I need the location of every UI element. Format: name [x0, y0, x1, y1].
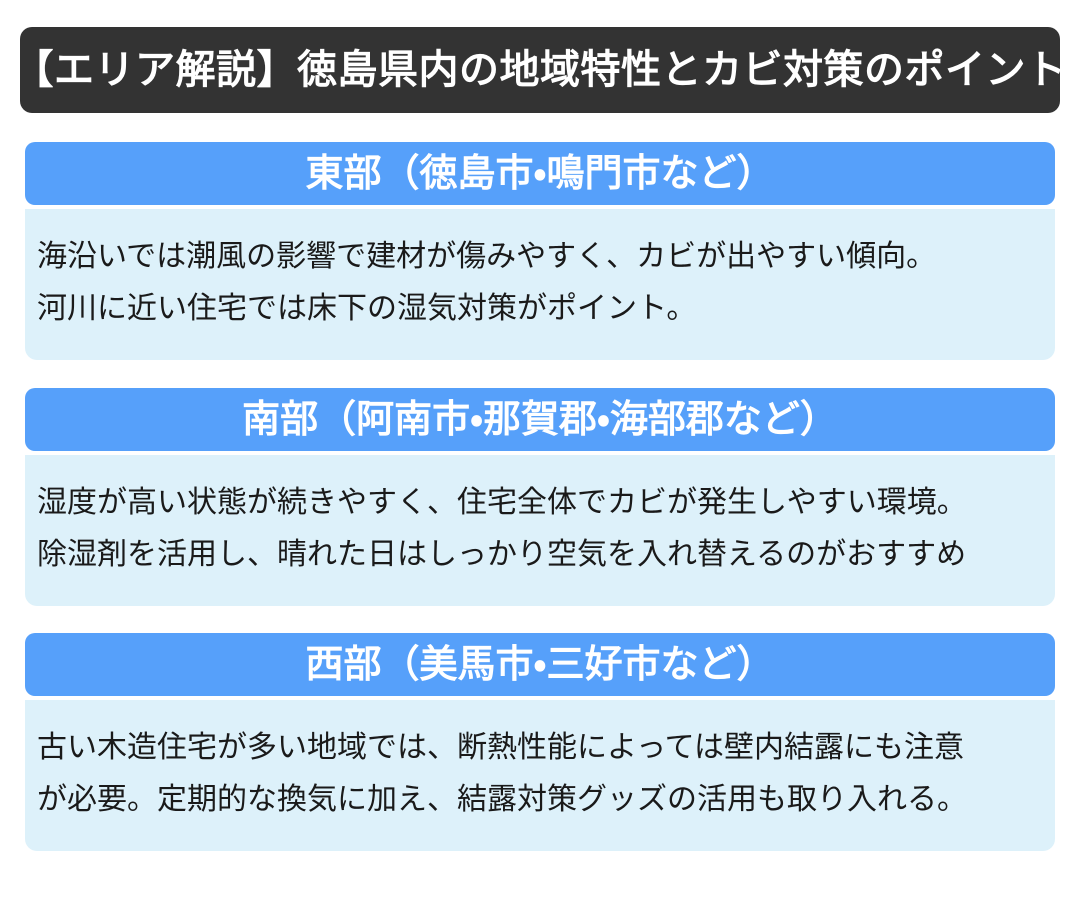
region-body-line: 海沿いでは潮風の影響で建材が傷みやすく、カビが出やすい傾向。 [37, 231, 1043, 283]
region-body-line: 河川に近い住宅では床下の湿気対策がポイント。 [37, 283, 1043, 335]
region-header-label-south: 南部（阿南市・那賀郡・海部郡など） [242, 400, 838, 440]
title-banner: 【エリア解説】徳島県内の地域特性とカビ対策のポイント [20, 27, 1060, 113]
region-card-west: 西部（美馬市・三好市など） 古い木造住宅が多い地域では、断熱性能によっては壁内結… [25, 633, 1055, 851]
infographic-root: 【エリア解説】徳島県内の地域特性とカビ対策のポイント 東部（徳島市・鳴門市など）… [0, 0, 1080, 897]
page-title: 【エリア解説】徳島県内の地域特性とカビ対策のポイント [14, 48, 1067, 92]
region-card-east: 東部（徳島市・鳴門市など） 海沿いでは潮風の影響で建材が傷みやすく、カビが出やす… [25, 142, 1055, 360]
region-body-west: 古い木造住宅が多い地域では、断熱性能によっては壁内結露にも注意 が必要。定期的な… [25, 700, 1055, 851]
region-header-label-west: 西部（美馬市・三好市など） [306, 645, 775, 685]
region-header-south: 南部（阿南市・那賀郡・海部郡など） [25, 388, 1055, 451]
region-body-line: 古い木造住宅が多い地域では、断熱性能によっては壁内結露にも注意 [37, 722, 1043, 774]
region-header-west: 西部（美馬市・三好市など） [25, 633, 1055, 696]
region-body-south: 湿度が高い状態が続きやすく、住宅全体でカビが発生しやすい環境。 除湿剤を活用し、… [25, 455, 1055, 606]
region-body-line: 湿度が高い状態が続きやすく、住宅全体でカビが発生しやすい環境。 [37, 477, 1043, 529]
region-header-east: 東部（徳島市・鳴門市など） [25, 142, 1055, 205]
region-body-east: 海沿いでは潮風の影響で建材が傷みやすく、カビが出やすい傾向。 河川に近い住宅では… [25, 209, 1055, 360]
region-body-line: が必要。定期的な換気に加え、結露対策グッズの活用も取り入れる。 [37, 774, 1043, 826]
region-header-label-east: 東部（徳島市・鳴門市など） [306, 154, 775, 194]
region-card-south: 南部（阿南市・那賀郡・海部郡など） 湿度が高い状態が続きやすく、住宅全体でカビが… [25, 388, 1055, 606]
region-body-line: 除湿剤を活用し、晴れた日はしっかり空気を入れ替えるのがおすすめ [37, 529, 1043, 581]
